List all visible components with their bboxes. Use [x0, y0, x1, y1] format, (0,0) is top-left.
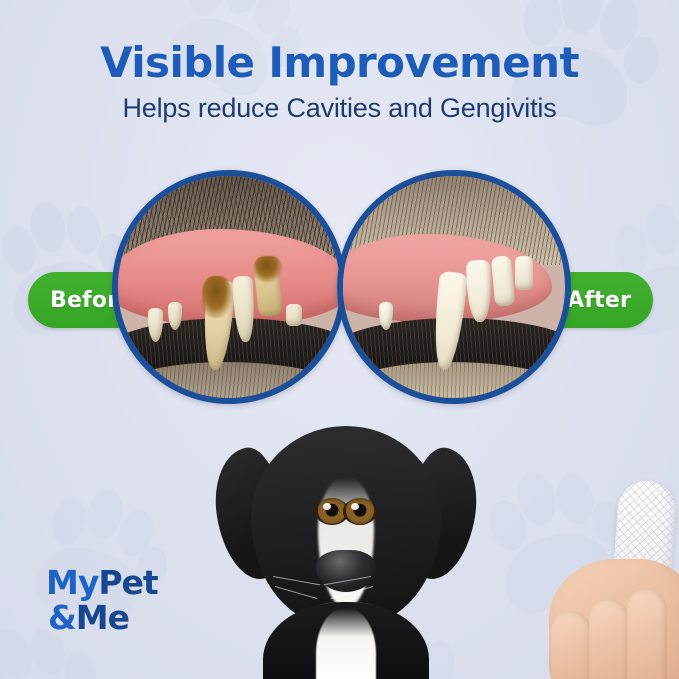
brand-logo: MyPet &Me [46, 566, 158, 634]
rear-tooth [286, 304, 302, 326]
dog-whisker [273, 576, 320, 585]
dog-whisker [275, 586, 318, 599]
before-photo-circle [112, 170, 346, 404]
dog-hero-photo [215, 418, 477, 679]
molar-tooth-clean [515, 256, 533, 290]
page-subtitle: Helps reduce Cavities and Gengivitis [0, 92, 679, 124]
brand-logo-line-2: &Me [46, 601, 158, 634]
after-mouth-photo [343, 176, 565, 398]
premolar-tooth-clean [491, 255, 515, 307]
finger [627, 589, 667, 679]
hand-with-finger-toothbrush [549, 469, 679, 679]
brand-logo-ampersand: & [48, 598, 76, 637]
after-label-text: After [567, 288, 631, 313]
dog-head [251, 426, 441, 626]
before-mouth-photo [118, 176, 340, 398]
brand-logo-my: My [46, 563, 98, 602]
dog-eye-right [343, 498, 377, 525]
finger [589, 599, 629, 679]
dog-nose [316, 550, 376, 592]
headline-block: Visible Improvement Helps reduce Cavitie… [0, 40, 679, 124]
tartar-deposit [202, 276, 232, 318]
brand-logo-line-1: MyPet [46, 566, 158, 599]
tartar-deposit [254, 256, 282, 282]
marketing-image-canvas: Visible Improvement Helps reduce Cavitie… [0, 0, 679, 679]
after-photo-circle [337, 170, 571, 404]
finger [551, 611, 591, 679]
brand-logo-pet: Pet [98, 563, 157, 602]
brand-logo-me: Me [76, 598, 129, 637]
page-title: Visible Improvement [0, 40, 679, 86]
